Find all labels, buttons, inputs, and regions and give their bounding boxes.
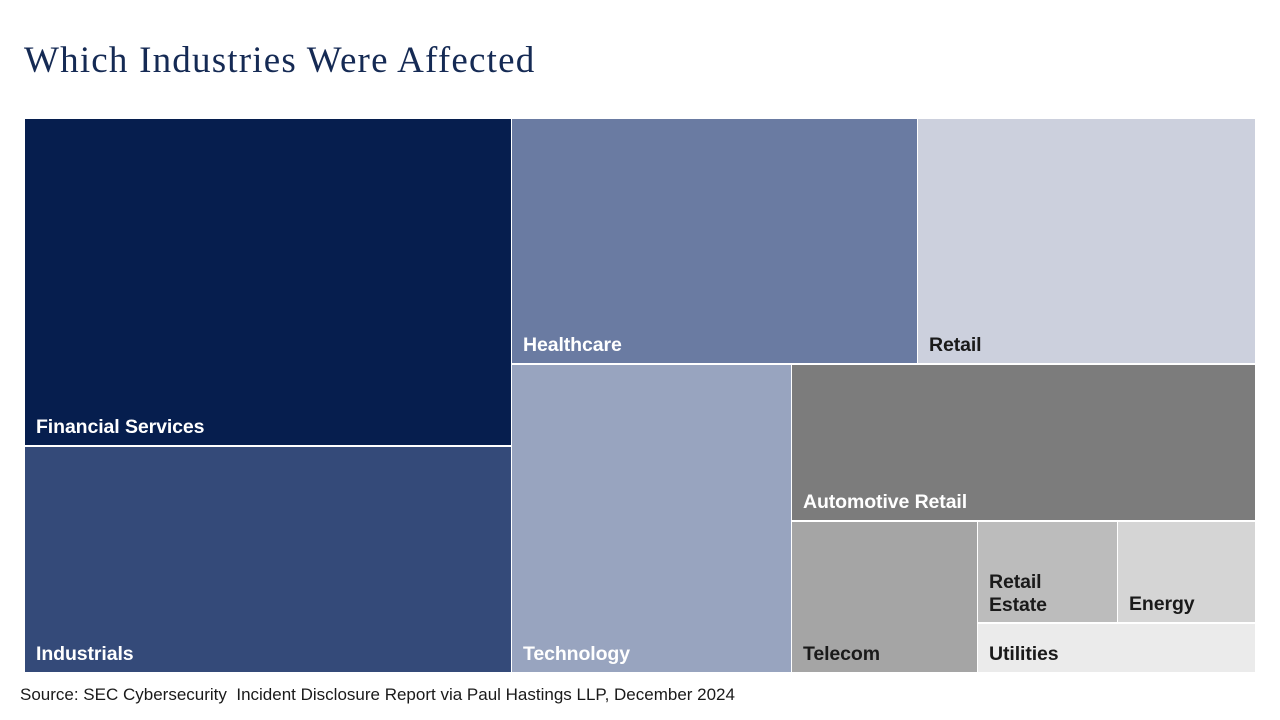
treemap-cell-label: Healthcare xyxy=(523,334,622,357)
treemap-cell-label: Energy xyxy=(1129,593,1195,616)
page-title: Which Industries Were Affected xyxy=(24,38,535,84)
treemap-cell: Industrials xyxy=(25,447,511,672)
treemap-cell-label: Retail xyxy=(929,334,982,357)
treemap-cell: Financial Services xyxy=(25,119,511,445)
treemap-cell: Automotive Retail xyxy=(792,365,1255,520)
treemap-cell: Retail xyxy=(918,119,1255,363)
treemap-cell-label: Telecom xyxy=(803,643,880,666)
source-footnote: Source: SEC Cybersecurity Incident Discl… xyxy=(20,683,735,707)
treemap-cell: Telecom xyxy=(792,522,977,672)
treemap-cell-label: Financial Services xyxy=(36,416,204,439)
treemap-cell: Energy xyxy=(1118,522,1255,622)
treemap-cell-label: Utilities xyxy=(989,643,1059,666)
treemap-cell: Technology xyxy=(512,365,791,672)
treemap-cell: Retail Estate xyxy=(978,522,1117,622)
treemap-cell-label: Technology xyxy=(523,643,630,666)
treemap-cell: Healthcare xyxy=(512,119,917,363)
treemap-cell: Utilities xyxy=(978,624,1255,672)
treemap-cell-label: Retail Estate xyxy=(989,571,1047,617)
treemap-chart: Financial ServicesIndustrialsHealthcareT… xyxy=(25,119,1255,672)
treemap-cell-label: Automotive Retail xyxy=(803,491,967,514)
treemap-cell-label: Industrials xyxy=(36,643,134,666)
